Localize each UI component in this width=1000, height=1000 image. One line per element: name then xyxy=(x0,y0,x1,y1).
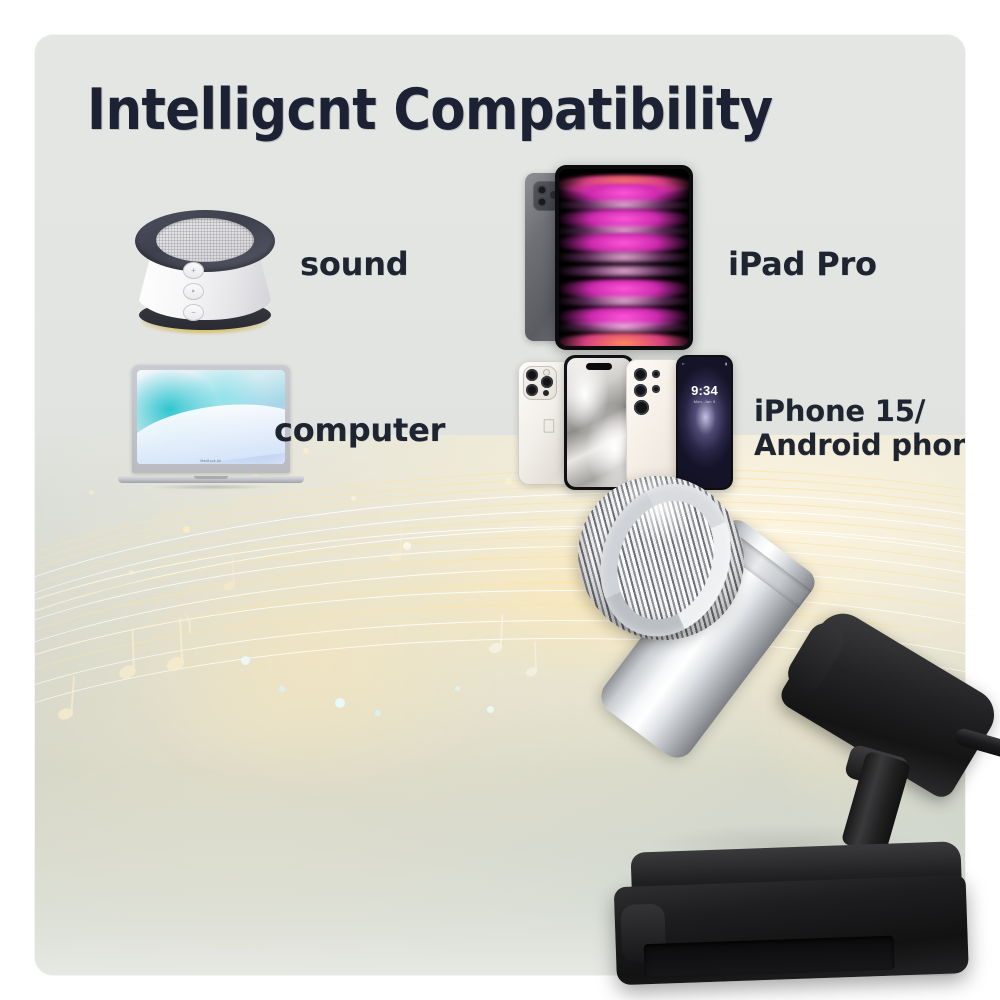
battery-icon: ▮ xyxy=(725,362,727,366)
ipad-screen xyxy=(559,169,689,346)
macbook-lid: MacBook Air xyxy=(132,365,290,473)
bokeh-dot xyxy=(279,686,285,692)
music-note-icon xyxy=(223,581,235,590)
microphone-base-stand xyxy=(612,841,977,1000)
android-clock: 9:34 xyxy=(678,383,731,398)
signal-icon: ▪▪ xyxy=(682,362,684,366)
speaker-button-up: + xyxy=(183,262,204,279)
macbook-screen: MacBook Air xyxy=(137,370,285,464)
bokeh-dot xyxy=(129,570,134,575)
music-note-icon xyxy=(119,666,136,679)
music-note-icon xyxy=(389,551,402,560)
page-title: Intelligcnt Compatibility xyxy=(87,77,773,143)
android-status-bar: ▪▪ ▮ xyxy=(682,361,727,366)
bokeh-dot xyxy=(455,686,460,691)
speaker-buttons: + ‣ − xyxy=(183,262,207,320)
dynamic-island xyxy=(586,363,612,370)
bokeh-dot xyxy=(375,710,381,716)
compat-label-computer: computer xyxy=(274,413,445,449)
apple-logo-icon:  xyxy=(542,417,556,436)
android-date: Mon, Jan 9 xyxy=(678,399,731,404)
compat-label-ipad-pro: iPad Pro xyxy=(728,247,877,283)
speaker-button-down: − xyxy=(183,304,204,321)
compat-label-sound: sound xyxy=(300,247,409,283)
compat-item-computer[interactable]: MacBook Air computer xyxy=(70,345,500,525)
music-note-icon xyxy=(166,657,184,671)
music-note-icon xyxy=(488,643,502,653)
bokeh-dot xyxy=(241,656,250,665)
ipad-pro-icon xyxy=(525,165,700,350)
bluetooth-speaker-icon: + ‣ − xyxy=(125,200,285,340)
bokeh-dot xyxy=(335,698,345,708)
compat-label-phones-line1: iPhone 15/ xyxy=(754,395,925,427)
music-note-icon xyxy=(57,708,73,720)
compat-item-sound[interactable]: + ‣ − sound xyxy=(70,155,500,345)
bokeh-dot xyxy=(183,526,190,533)
speaker-button-play: ‣ xyxy=(183,283,204,300)
compat-item-ipad-pro[interactable]: iPad Pro xyxy=(500,155,965,345)
bokeh-dot xyxy=(487,706,494,713)
product-marketing-image: Intelligcnt Compatibility + ‣ − xyxy=(0,0,1000,1000)
iphone-camera-module xyxy=(523,366,557,400)
ipad-front-panel xyxy=(555,165,693,350)
music-note-icon xyxy=(525,668,537,677)
mini-microphone-product xyxy=(555,455,1000,1000)
bokeh-dot xyxy=(403,542,411,550)
macbook-brand-text: MacBook Air xyxy=(137,459,285,463)
